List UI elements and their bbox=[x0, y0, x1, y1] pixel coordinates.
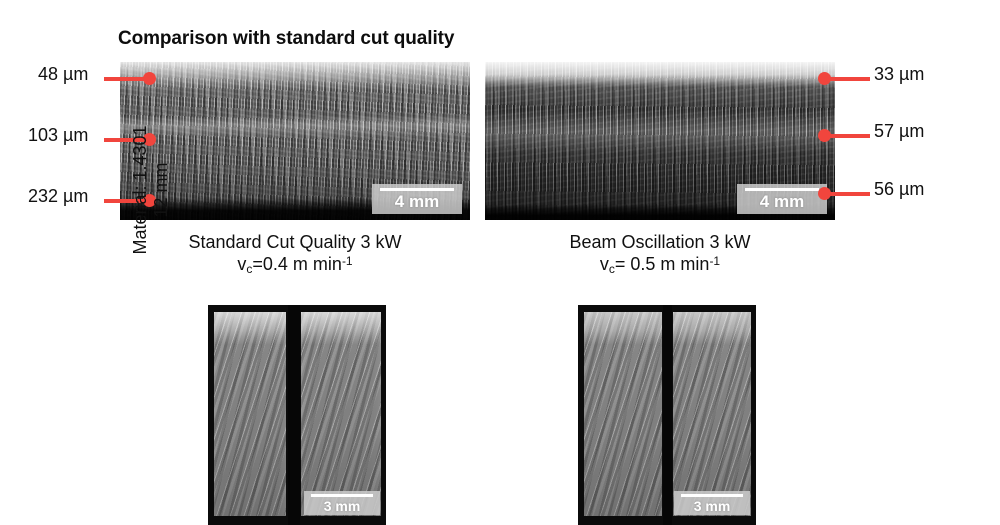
caption-speed-exponent: -1 bbox=[342, 254, 353, 268]
callout-label-48um: 48 µm bbox=[38, 64, 88, 85]
scalebar-oscillation-edge: 4 mm bbox=[737, 184, 827, 214]
caption-standard-cut: Standard Cut Quality 3 kW vc=0.4 m min-1 bbox=[120, 232, 470, 277]
callout-dot bbox=[818, 129, 831, 142]
callout-label-232um: 232 µm bbox=[28, 186, 88, 207]
page-title: Comparison with standard cut quality bbox=[118, 28, 454, 50]
macrograph-beam-oscillation-cross-section: 3 mm bbox=[578, 305, 756, 525]
scalebar-rule bbox=[311, 494, 373, 497]
scalebar-label: 4 mm bbox=[760, 193, 804, 210]
cross-section-kerf-gap bbox=[663, 305, 672, 525]
cross-section-face-left bbox=[584, 312, 662, 516]
cross-section-face-right bbox=[301, 312, 381, 516]
callout-pointer-56um bbox=[818, 191, 870, 197]
scalebar-rule bbox=[681, 494, 743, 497]
micrograph-beam-oscillation-edge: 4 mm bbox=[485, 62, 835, 220]
macrograph-standard-cut-cross-section: 3 mm bbox=[208, 305, 386, 525]
callout-pointer-33um bbox=[818, 76, 870, 82]
caption-line-1: Standard Cut Quality 3 kW bbox=[188, 232, 401, 252]
callout-dot bbox=[818, 187, 831, 200]
caption-line-1: Beam Oscillation 3 kW bbox=[569, 232, 750, 252]
caption-speed-exponent: -1 bbox=[709, 254, 720, 268]
callout-dot bbox=[818, 72, 831, 85]
scalebar-label: 3 mm bbox=[694, 499, 731, 513]
caption-speed-symbol: v bbox=[600, 254, 609, 274]
cross-section-face-left bbox=[214, 312, 286, 516]
scalebar-standard-edge: 4 mm bbox=[372, 184, 462, 214]
caption-speed-value: =0.4 m min bbox=[252, 254, 342, 274]
callout-label-103um: 103 µm bbox=[28, 125, 88, 146]
callout-label-57um: 57 µm bbox=[874, 121, 924, 142]
micrograph-standard-cut-edge: 4 mm bbox=[120, 62, 470, 220]
scalebar-rule bbox=[745, 188, 819, 191]
callout-pointer-57um bbox=[818, 133, 870, 139]
material-label-line-2: 12 mm bbox=[151, 163, 171, 218]
cross-section-face-right bbox=[673, 312, 751, 516]
scalebar-label: 4 mm bbox=[395, 193, 439, 210]
material-label: Material: 1.4301 12 mm bbox=[130, 80, 172, 300]
caption-beam-oscillation: Beam Oscillation 3 kW vc= 0.5 m min-1 bbox=[485, 232, 835, 277]
callout-label-56um: 56 µm bbox=[874, 179, 924, 200]
scalebar-rule bbox=[380, 188, 454, 191]
scalebar-label: 3 mm bbox=[324, 499, 361, 513]
scalebar-standard-cross: 3 mm bbox=[304, 491, 380, 515]
callout-label-33um: 33 µm bbox=[874, 64, 924, 85]
scalebar-oscillation-cross: 3 mm bbox=[674, 491, 750, 515]
cross-section-kerf-gap bbox=[288, 305, 300, 525]
material-label-line-1: Material: 1.4301 bbox=[130, 125, 150, 254]
caption-speed-value: = 0.5 m min bbox=[615, 254, 710, 274]
